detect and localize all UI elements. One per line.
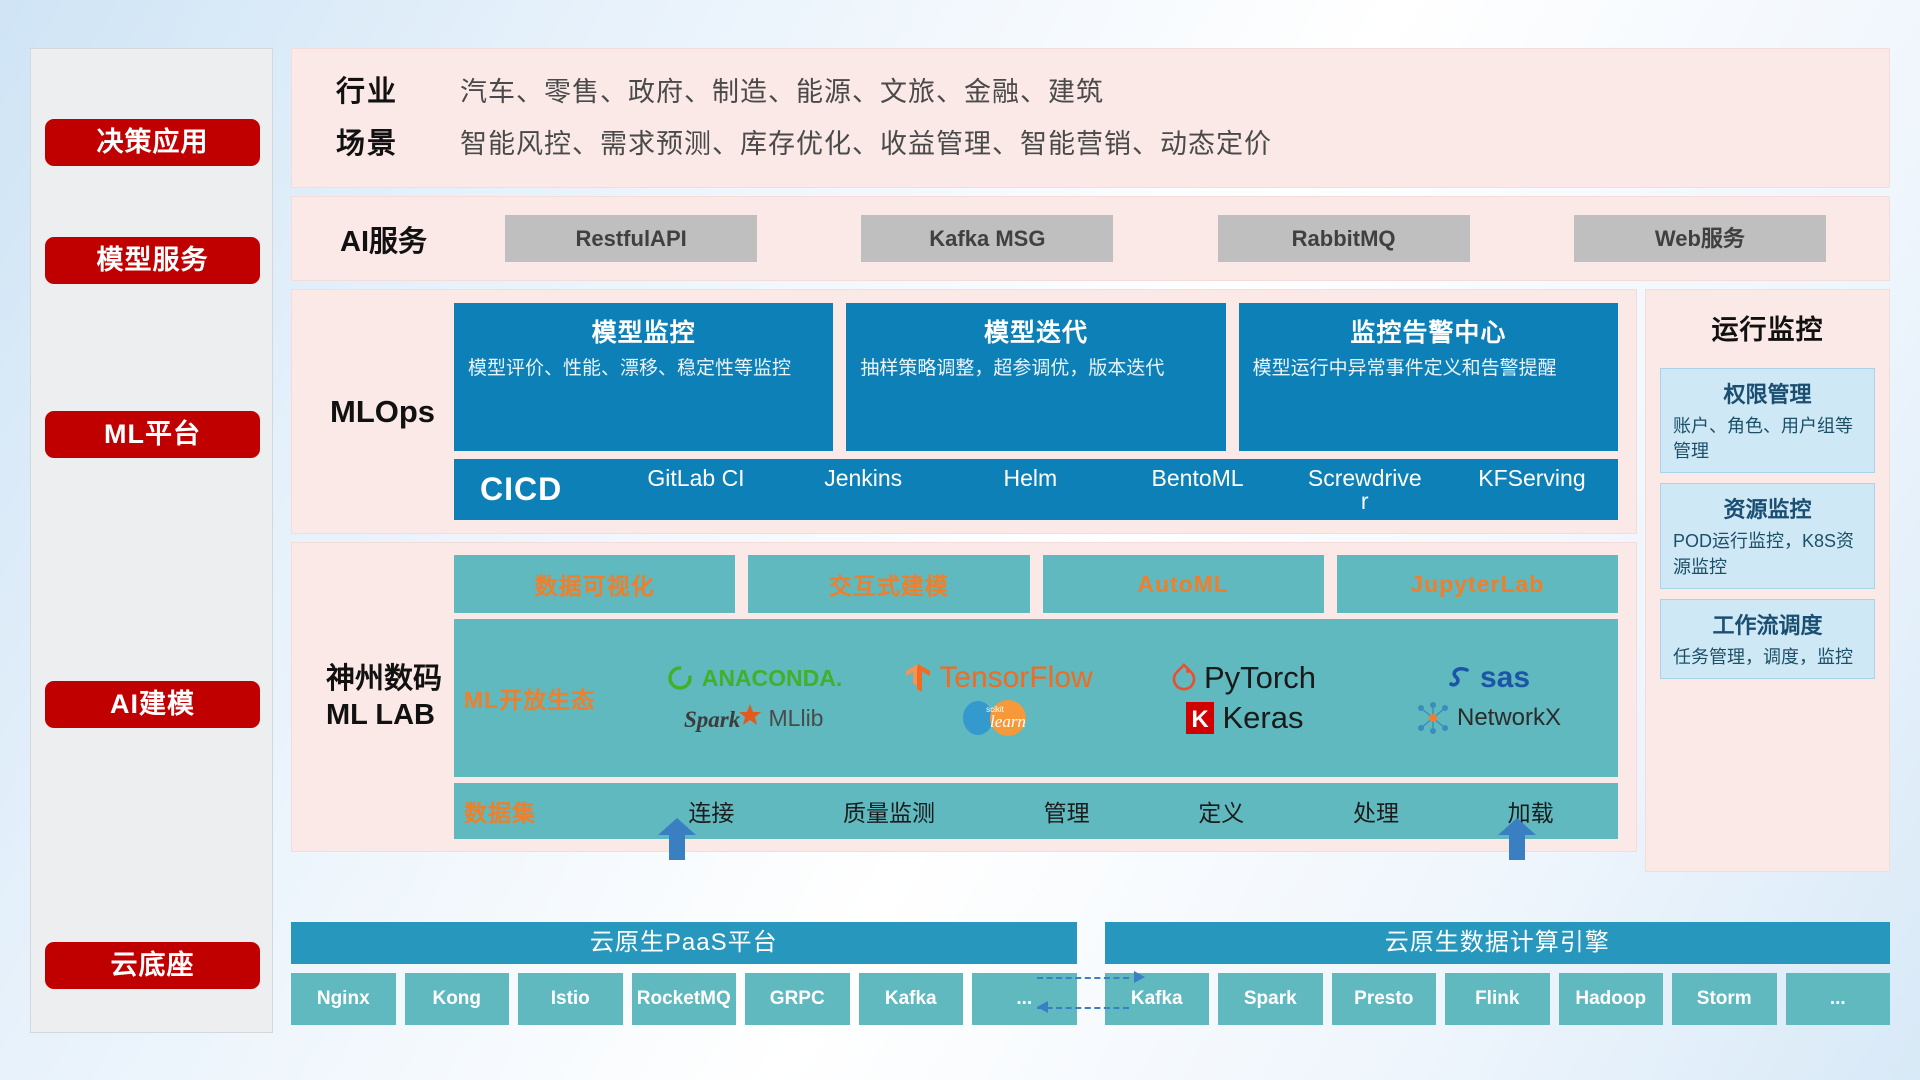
scenario-value: 智能风控、需求预测、库存优化、收益管理、智能营销、动态定价	[460, 118, 1871, 170]
anaconda-logo: ANACONDA.	[665, 663, 843, 693]
engine-chip-presto[interactable]: Presto	[1332, 973, 1437, 1025]
dataset-label: 数据集	[464, 794, 634, 828]
mlops-card-model-iteration[interactable]: 模型迭代 抽样策略调整，超参调优，版本迭代	[846, 303, 1225, 451]
data-engine-group: 云原生数据计算引擎 Kafka Spark Presto Flink Hadoo…	[1105, 922, 1891, 1025]
networkx-text: NetworkX	[1457, 704, 1561, 732]
decision-applications-panel: 行业 场景 汽车、零售、政府、制造、能源、文旅、金融、建筑 智能风控、需求预测、…	[291, 48, 1890, 188]
scenario-label: 场景	[310, 118, 460, 170]
ai-services-label: AI服务	[314, 218, 464, 260]
dataset-items: 连接 质量监测 管理 定义 处理 加载	[634, 794, 1608, 828]
engine-chip-hadoop[interactable]: Hadoop	[1559, 973, 1664, 1025]
tab-data-visualization[interactable]: 数据可视化	[454, 555, 735, 613]
paas-chip-list: Nginx Kong Istio RocketMQ GRPC Kafka ...	[291, 973, 1077, 1025]
mlops-stack: 模型监控 模型评价、性能、漂移、稳定性等监控 模型迭代 抽样策略调整，超参调优，…	[454, 303, 1618, 520]
keras-icon: K	[1184, 701, 1216, 735]
arrow-up-paas-icon	[658, 818, 696, 860]
tab-automl[interactable]: AutoML	[1043, 555, 1324, 613]
tab-jupyterlab[interactable]: JupyterLab	[1337, 555, 1618, 613]
ml-lab-label-line2: ML LAB	[326, 697, 454, 733]
paas-chip-nginx[interactable]: Nginx	[291, 973, 396, 1025]
dashed-line-right-icon	[1037, 977, 1129, 979]
ml-ecosystem-label: ML开放生态	[464, 681, 634, 715]
dataset-item-process[interactable]: 处理	[1353, 794, 1399, 828]
card-title: 监控告警中心	[1253, 313, 1604, 349]
cicd-item-helm[interactable]: Helm	[970, 467, 1090, 513]
rail-item-ml-platform[interactable]: ML平台	[45, 411, 260, 458]
paas-platform-title: 云原生PaaS平台	[291, 922, 1077, 964]
keras-text: Keras	[1223, 700, 1304, 736]
sas-icon	[1447, 664, 1473, 692]
cicd-title: CICD	[480, 471, 630, 508]
scikit-learn-logo: scikit learn	[956, 699, 1042, 737]
svg-text:K: K	[1191, 706, 1209, 733]
spark-icon: Spark	[684, 702, 762, 734]
tab-interactive-modeling[interactable]: 交互式建模	[748, 555, 1029, 613]
monitor-card-desc: 账户、角色、用户组等管理	[1673, 414, 1862, 464]
mlops-label: MLOps	[304, 303, 454, 520]
dashed-line-left-icon	[1037, 1007, 1129, 1009]
application-values: 汽车、零售、政府、制造、能源、文旅、金融、建筑 智能风控、需求预测、库存优化、收…	[460, 66, 1871, 170]
dataset-item-manage[interactable]: 管理	[1044, 794, 1090, 828]
card-desc: 抽样策略调整，超参调优，版本迭代	[860, 356, 1211, 383]
engine-chip-spark[interactable]: Spark	[1218, 973, 1323, 1025]
pytorch-logo: PyTorch	[1171, 660, 1316, 696]
mlops-card-model-monitoring[interactable]: 模型监控 模型评价、性能、漂移、稳定性等监控	[454, 303, 833, 451]
mlops-card-alert-center[interactable]: 监控告警中心 模型运行中异常事件定义和告警提醒	[1239, 303, 1618, 451]
paas-chip-rocketmq[interactable]: RocketMQ	[632, 973, 737, 1025]
ml-platform-row: MLOps 模型监控 模型评价、性能、漂移、稳定性等监控 模型迭代 抽样策略调整…	[291, 289, 1890, 534]
spark-mllib-logo: Spark MLlib	[684, 702, 824, 734]
service-chip-kafka-msg[interactable]: Kafka MSG	[861, 215, 1113, 262]
ml-ecosystem-logos: ANACONDA. TensorFlow	[634, 659, 1608, 737]
arrow-head-right-icon	[1134, 971, 1145, 983]
paas-chip-grpc[interactable]: GRPC	[745, 973, 850, 1025]
card-title: 模型监控	[468, 313, 819, 349]
application-labels: 行业 场景	[310, 66, 460, 170]
pytorch-icon	[1171, 663, 1197, 693]
card-desc: 模型运行中异常事件定义和告警提醒	[1253, 356, 1604, 383]
ml-ecosystem-panel: ML开放生态 ANACONDA.	[454, 619, 1618, 777]
industry-value: 汽车、零售、政府、制造、能源、文旅、金融、建筑	[460, 66, 1871, 118]
monitor-card-title: 资源监控	[1673, 492, 1862, 524]
keras-logo: K Keras	[1184, 700, 1304, 736]
cicd-bar: CICD GitLab CI Jenkins Helm BentoML Scre…	[454, 459, 1618, 520]
ml-lab-tabs: 数据可视化 交互式建模 AutoML JupyterLab	[454, 555, 1618, 613]
rail-item-ai-modeling[interactable]: AI建模	[45, 681, 260, 728]
engine-chip-more[interactable]: ...	[1786, 973, 1891, 1025]
dataset-bar: 数据集 连接 质量监测 管理 定义 处理 加载	[454, 783, 1618, 839]
sas-logo: sas	[1447, 661, 1530, 695]
engine-chip-flink[interactable]: Flink	[1445, 973, 1550, 1025]
dataset-item-define[interactable]: 定义	[1198, 794, 1244, 828]
cicd-item-gitlab-ci[interactable]: GitLab CI	[636, 467, 756, 513]
cicd-item-kfserving[interactable]: KFServing	[1472, 467, 1592, 513]
data-engine-title: 云原生数据计算引擎	[1105, 922, 1891, 964]
sas-text: sas	[1480, 661, 1530, 695]
ml-lab-panel: 神州数码 ML LAB 数据可视化 交互式建模 AutoML JupyterLa…	[291, 542, 1637, 852]
networkx-logo: NetworkX	[1416, 702, 1561, 734]
cicd-item-jenkins[interactable]: Jenkins	[803, 467, 923, 513]
svg-text:learn: learn	[990, 712, 1026, 731]
modeling-row-spacer	[1645, 542, 1890, 852]
pytorch-text: PyTorch	[1204, 660, 1316, 696]
cicd-item-screwdriver[interactable]: Screwdriver	[1305, 467, 1425, 513]
monitor-title: 运行监控	[1660, 302, 1875, 358]
data-engine-chip-list: Kafka Spark Presto Flink Hadoop Storm ..…	[1105, 973, 1891, 1025]
layer-rail: 决策应用 模型服务 ML平台 AI建模 云底座	[30, 48, 273, 1033]
service-chip-web[interactable]: Web服务	[1574, 215, 1826, 262]
ai-services-items: RestfulAPI Kafka MSG RabbitMQ Web服务	[464, 215, 1867, 262]
service-chip-rabbitmq[interactable]: RabbitMQ	[1218, 215, 1470, 262]
mlops-panel: MLOps 模型监控 模型评价、性能、漂移、稳定性等监控 模型迭代 抽样策略调整…	[291, 289, 1637, 534]
paas-platform-group: 云原生PaaS平台 Nginx Kong Istio RocketMQ GRPC…	[291, 922, 1077, 1025]
architecture-diagram: 决策应用 模型服务 ML平台 AI建模 云底座 行业 场景 汽车、零售、政府、制…	[30, 48, 1890, 1033]
mllib-text: MLlib	[769, 705, 824, 732]
networkx-icon	[1416, 702, 1450, 734]
service-chip-restfulapi[interactable]: RestfulAPI	[505, 215, 757, 262]
card-title: 模型迭代	[860, 313, 1211, 349]
dataset-item-quality[interactable]: 质量监测	[843, 794, 935, 828]
cicd-item-bentoml[interactable]: BentoML	[1138, 467, 1258, 513]
paas-chip-kafka[interactable]: Kafka	[859, 973, 964, 1025]
rail-item-model-services[interactable]: 模型服务	[45, 237, 260, 284]
arrow-up-data-engine-icon	[1498, 818, 1536, 860]
industry-label: 行业	[310, 66, 460, 118]
rail-item-cloud-foundation[interactable]: 云底座	[45, 942, 260, 989]
anaconda-text: ANACONDA.	[702, 665, 843, 692]
ai-modeling-row: 神州数码 ML LAB 数据可视化 交互式建模 AutoML JupyterLa…	[291, 542, 1890, 852]
card-desc: 模型评价、性能、漂移、稳定性等监控	[468, 356, 819, 383]
engine-chip-storm[interactable]: Storm	[1672, 973, 1777, 1025]
ai-services-panel: AI服务 RestfulAPI Kafka MSG RabbitMQ Web服务	[291, 196, 1890, 281]
paas-chip-istio[interactable]: Istio	[518, 973, 623, 1025]
bidirectional-link-arrows	[1037, 967, 1145, 1017]
mlops-cards: 模型监控 模型评价、性能、漂移、稳定性等监控 模型迭代 抽样策略调整，超参调优，…	[454, 303, 1618, 451]
scikit-learn-icon: scikit learn	[956, 699, 1042, 737]
rail-item-decision-applications[interactable]: 决策应用	[45, 119, 260, 166]
tensorflow-text: TensorFlow	[939, 661, 1092, 695]
content-column: 行业 场景 汽车、零售、政府、制造、能源、文旅、金融、建筑 智能风控、需求预测、…	[291, 48, 1890, 1033]
ml-lab-label: 神州数码 ML LAB	[304, 555, 454, 839]
arrow-head-left-icon	[1037, 1001, 1048, 1013]
ml-lab-stack: 数据可视化 交互式建模 AutoML JupyterLab ML开放生态	[454, 555, 1618, 839]
tensorflow-logo: TensorFlow	[904, 661, 1092, 695]
cicd-items: GitLab CI Jenkins Helm BentoML Screwdriv…	[636, 467, 1592, 513]
cloud-foundation-row: 云原生PaaS平台 Nginx Kong Istio RocketMQ GRPC…	[291, 860, 1890, 1025]
monitor-card-title: 权限管理	[1673, 377, 1862, 409]
tensorflow-icon	[904, 662, 932, 694]
svg-text:Spark: Spark	[684, 707, 741, 732]
monitor-card-permissions[interactable]: 权限管理 账户、角色、用户组等管理	[1660, 368, 1875, 473]
anaconda-icon	[665, 663, 695, 693]
paas-chip-kong[interactable]: Kong	[405, 973, 510, 1025]
ml-lab-label-line1: 神州数码	[326, 661, 454, 697]
